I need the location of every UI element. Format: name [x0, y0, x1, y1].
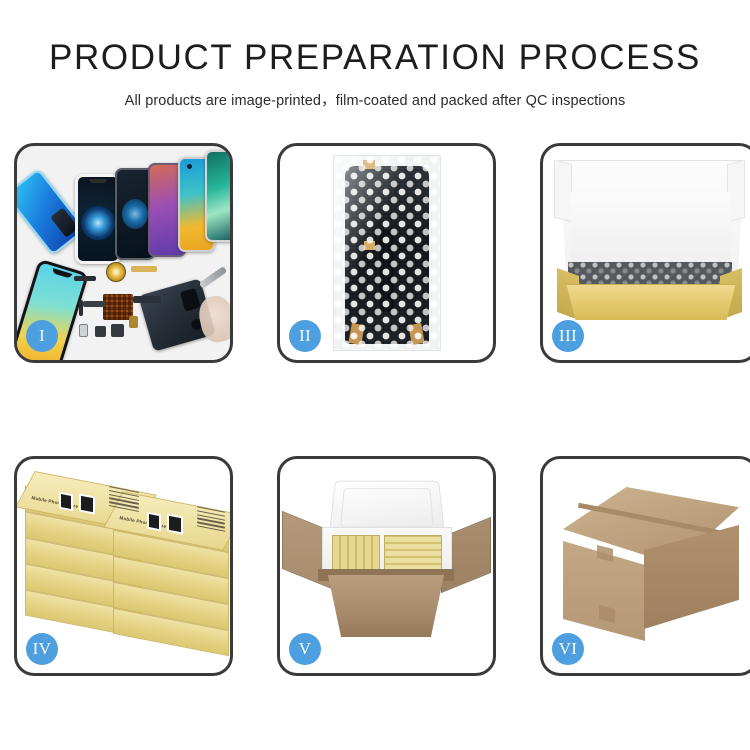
foam-sheet-icon: [571, 192, 731, 264]
bubble-wrap-bag-icon: [333, 155, 441, 351]
speaker-part-icon: [74, 276, 96, 281]
yellow-boxes-group-right-icon: [384, 535, 442, 571]
box-print-screen-right-2-icon: [167, 513, 183, 534]
step-panel-2: II: [277, 143, 496, 363]
yellow-boxes-group-left-icon: [332, 535, 380, 571]
speaker-module-icon: [111, 324, 124, 337]
steps-grid: I II: [14, 143, 740, 676]
tweezers-icon: [199, 266, 228, 289]
step-badge-4: IV: [26, 633, 58, 665]
step-badge-5: V: [289, 633, 321, 665]
plastic-shine-icon: [334, 156, 440, 350]
battery-connector-icon: [129, 316, 138, 328]
phone-green-icon: [205, 150, 230, 242]
step-badge-3: III: [552, 320, 584, 352]
box-front-panel-icon: [561, 284, 741, 320]
screen-wallpaper-burst-icon: [81, 206, 115, 240]
flex-cable-small-icon: [83, 301, 105, 307]
flex-cable-gold-icon: [131, 266, 157, 272]
wireless-charging-coil-icon: [106, 262, 126, 282]
page-title: PRODUCT PREPARATION PROCESS: [0, 38, 750, 78]
header: PRODUCT PREPARATION PROCESS All products…: [0, 0, 750, 110]
box-print-screen-right-1-icon: [147, 512, 161, 532]
step-badge-1: I: [26, 320, 58, 352]
step-badge-6: VI: [552, 633, 584, 665]
step-badge-2: II: [289, 320, 321, 352]
vibration-motor-icon: [95, 326, 106, 337]
page-subtitle: All products are image-printed，film-coat…: [0, 89, 750, 110]
box-print-screen-left-2-icon: [79, 493, 95, 514]
step-panel-3: III: [540, 143, 750, 363]
step-panel-5: V: [277, 456, 496, 676]
phone-notch-icon: [89, 179, 107, 183]
step-panel-4: Mobile Phone Spare Parts Mobile Phone Sp…: [14, 456, 233, 676]
camera-module-icon: [180, 288, 201, 312]
box-print-screen-left-1-icon: [59, 492, 73, 512]
step-panel-1: I: [14, 143, 233, 363]
phone-notch-large-icon: [52, 268, 73, 279]
carton-front-panel-icon: [320, 575, 452, 637]
sim-tray-icon: [79, 324, 88, 337]
box-lid-flap-left-icon: [554, 160, 572, 222]
product-preparation-infographic: PRODUCT PREPARATION PROCESS All products…: [0, 0, 750, 750]
flex-cable-dark-icon: [133, 296, 161, 303]
punch-hole-camera-icon: [187, 164, 192, 169]
step-panel-6: VI: [540, 456, 750, 676]
